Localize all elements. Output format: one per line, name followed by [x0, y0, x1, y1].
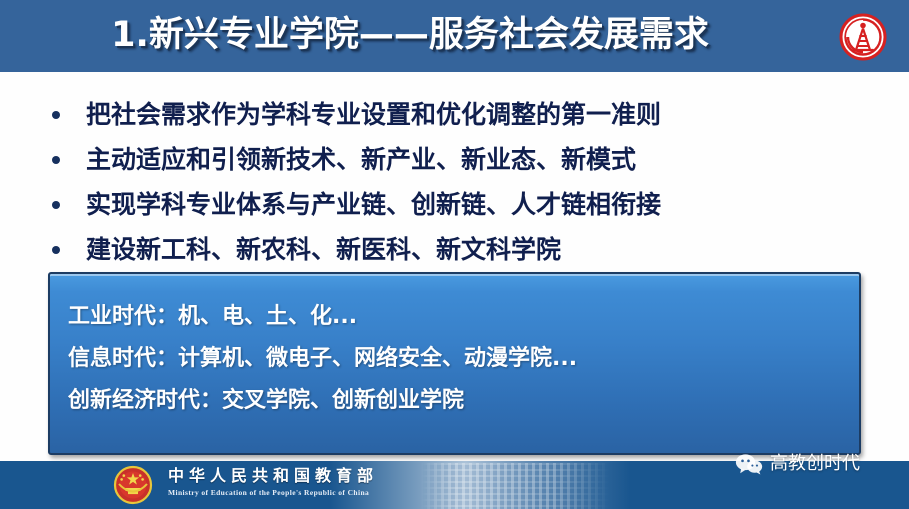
list-item-label: 建设新工科、新农科、新医科、新文科学院 — [86, 227, 561, 272]
bullet-dot-icon — [52, 246, 60, 254]
bullet-list: 把社会需求作为学科专业设置和优化调整的第一准则 主动适应和引领新技术、新产业、新… — [0, 92, 909, 272]
watermark: 高教创时代 — [735, 452, 860, 476]
list-item-label: 把社会需求作为学科专业设置和优化调整的第一准则 — [86, 92, 661, 137]
footer-org-block: 中华人民共和国教育部 Ministry of Education of the … — [168, 465, 468, 499]
watermark-label: 高教创时代 — [770, 452, 860, 476]
list-item: 建设新工科、新农科、新医科、新文科学院 — [0, 227, 909, 272]
callout-line: 信息时代：计算机、微电子、网络安全、动漫学院... — [68, 338, 859, 380]
bullet-dot-icon — [52, 111, 60, 119]
slide-header: 1.新兴专业学院——服务社会发展需求 — [0, 0, 909, 72]
slide-canvas: 1.新兴专业学院——服务社会发展需求 把社会需求作为学科专业设置和优化调整的第一… — [0, 0, 909, 509]
callout-box: 工业时代：机、电、土、化... 信息时代：计算机、微电子、网络安全、动漫学院..… — [48, 272, 861, 455]
callout-line: 创新经济时代：交叉学院、创新创业学院 — [68, 380, 859, 422]
footer-org-name-cn: 中华人民共和国教育部 — [168, 465, 468, 487]
bullet-dot-icon — [52, 201, 60, 209]
footer-org-name-en: Ministry of Education of the People's Re… — [168, 487, 468, 499]
callout-line: 工业时代：机、电、土、化... — [68, 296, 859, 338]
list-item: 主动适应和引领新技术、新产业、新业态、新模式 — [0, 137, 909, 182]
list-item: 把社会需求作为学科专业设置和优化调整的第一准则 — [0, 92, 909, 137]
page-title: 1.新兴专业学院——服务社会发展需求 — [0, 10, 820, 60]
list-item: 实现学科专业体系与产业链、创新链、人才链相衔接 — [0, 182, 909, 227]
list-item-label: 实现学科专业体系与产业链、创新链、人才链相衔接 — [86, 182, 661, 227]
china-national-emblem-icon — [113, 465, 153, 505]
bullet-dot-icon — [52, 156, 60, 164]
wechat-icon — [735, 452, 763, 476]
list-item-label: 主动适应和引领新技术、新产业、新业态、新模式 — [86, 137, 636, 182]
red-circular-tower-emblem-icon — [838, 12, 888, 62]
